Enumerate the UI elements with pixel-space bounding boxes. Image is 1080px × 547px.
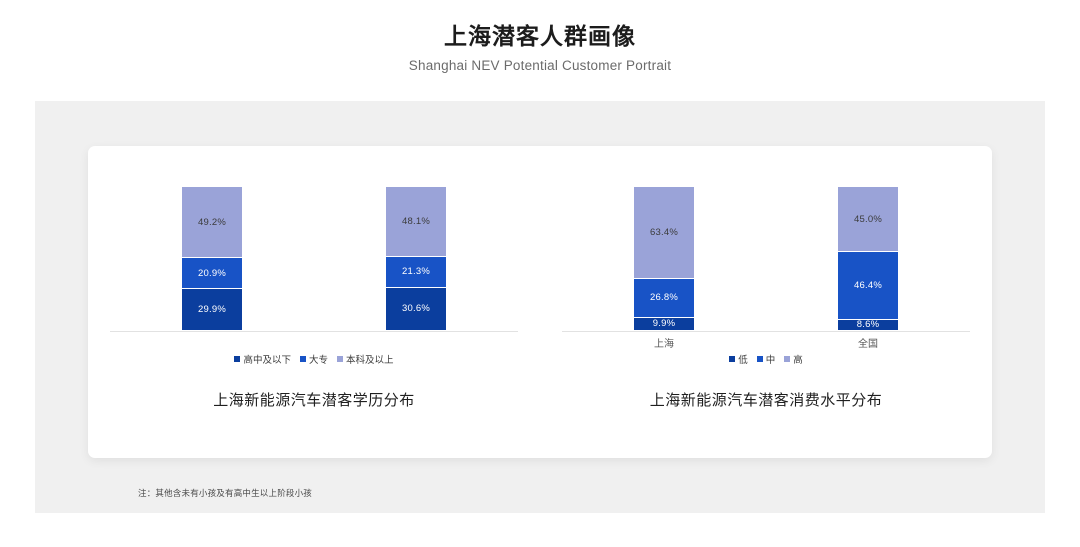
- x-axis-labels: 上海 全国: [562, 335, 970, 350]
- bar-segment-label: 45.0%: [854, 214, 882, 225]
- bar-segment-label: 30.6%: [402, 303, 430, 314]
- bar-segment[interactable]: 63.4%: [633, 186, 695, 278]
- legend-swatch-icon: [784, 356, 790, 362]
- bar-column[interactable]: 63.4% 26.8% 9.9%: [633, 186, 695, 331]
- bar-group: 63.4% 26.8% 9.9% 45.0% 46.4% 8.6%: [562, 186, 970, 331]
- x-axis-line: [110, 331, 518, 332]
- bar-segment[interactable]: 21.3%: [385, 256, 447, 287]
- legend-item[interactable]: 本科及以上: [337, 352, 394, 366]
- bar-segment-label: 8.6%: [857, 319, 879, 330]
- bar-segment-label: 49.2%: [198, 217, 226, 228]
- bar-segment-label: 48.1%: [402, 216, 430, 227]
- legend-label: 高: [793, 352, 803, 366]
- legend-item[interactable]: 大专: [300, 352, 328, 366]
- bar-segment-label: 46.4%: [854, 280, 882, 291]
- legend-swatch-icon: [729, 356, 735, 362]
- bar-column[interactable]: 48.1% 21.3% 30.6%: [385, 186, 447, 331]
- charts-row: 49.2% 20.9% 29.9% 48.1% 21.3% 30.6%: [88, 146, 992, 458]
- bar-segment[interactable]: 30.6%: [385, 287, 447, 331]
- plot-area: 63.4% 26.8% 9.9% 45.0% 46.4% 8.6%: [540, 186, 992, 332]
- bar-segment-label: 26.8%: [650, 292, 678, 303]
- bar-segment-label: 20.9%: [198, 268, 226, 279]
- page-subtitle: Shanghai NEV Potential Customer Portrait: [0, 58, 1080, 73]
- bar-segment-label: 63.4%: [650, 227, 678, 238]
- legend-label: 大专: [309, 352, 328, 366]
- legend-swatch-icon: [757, 356, 763, 362]
- plot-area: 49.2% 20.9% 29.9% 48.1% 21.3% 30.6%: [88, 186, 540, 332]
- bar-group: 49.2% 20.9% 29.9% 48.1% 21.3% 30.6%: [110, 186, 518, 331]
- page-header: 上海潜客人群画像 Shanghai NEV Potential Customer…: [0, 0, 1080, 73]
- bar-column[interactable]: 45.0% 46.4% 8.6%: [837, 186, 899, 331]
- bar-column[interactable]: 49.2% 20.9% 29.9%: [181, 186, 243, 331]
- bar-segment-label: 21.3%: [402, 266, 430, 277]
- legend-label: 本科及以上: [346, 352, 394, 366]
- bar-segment[interactable]: 26.8%: [633, 278, 695, 317]
- chart-education-distribution: 49.2% 20.9% 29.9% 48.1% 21.3% 30.6%: [88, 146, 540, 458]
- chart-caption: 上海新能源汽车潜客消费水平分布: [540, 389, 992, 410]
- bar-segment-label: 9.9%: [653, 318, 675, 329]
- chart-legend: 低 中 高: [540, 352, 992, 366]
- legend-item[interactable]: 中: [757, 352, 776, 366]
- legend-swatch-icon: [234, 356, 240, 362]
- chart-legend: 高中及以下 大专 本科及以上: [88, 352, 540, 366]
- bar-segment[interactable]: 29.9%: [181, 288, 243, 331]
- legend-item[interactable]: 高中及以下: [234, 352, 291, 366]
- bar-segment[interactable]: 48.1%: [385, 186, 447, 256]
- legend-item[interactable]: 高: [784, 352, 803, 366]
- legend-swatch-icon: [337, 356, 343, 362]
- legend-label: 低: [738, 352, 748, 366]
- bar-segment[interactable]: 20.9%: [181, 257, 243, 287]
- bar-segment-label: 29.9%: [198, 304, 226, 315]
- legend-item[interactable]: 低: [729, 352, 748, 366]
- bar-segment[interactable]: 45.0%: [837, 186, 899, 251]
- x-axis-label-shanghai: 上海: [633, 335, 695, 350]
- bar-segment[interactable]: 49.2%: [181, 186, 243, 257]
- footnote: 注：其他含未有小孩及有高中生以上阶段小孩: [138, 487, 312, 499]
- bar-segment[interactable]: 9.9%: [633, 317, 695, 331]
- bar-segment[interactable]: 46.4%: [837, 251, 899, 318]
- chart-caption: 上海新能源汽车潜客学历分布: [88, 389, 540, 410]
- page-title: 上海潜客人群画像: [0, 22, 1080, 51]
- legend-label: 高中及以下: [243, 352, 291, 366]
- charts-card: 49.2% 20.9% 29.9% 48.1% 21.3% 30.6%: [88, 146, 992, 458]
- x-axis-line: [562, 331, 970, 332]
- content-panel: 49.2% 20.9% 29.9% 48.1% 21.3% 30.6%: [35, 101, 1045, 513]
- chart-consumption-level-distribution: 63.4% 26.8% 9.9% 45.0% 46.4% 8.6% 上海: [540, 146, 992, 458]
- legend-label: 中: [766, 352, 776, 366]
- bar-segment[interactable]: 8.6%: [837, 319, 899, 331]
- legend-swatch-icon: [300, 356, 306, 362]
- x-axis-label-national: 全国: [837, 335, 899, 350]
